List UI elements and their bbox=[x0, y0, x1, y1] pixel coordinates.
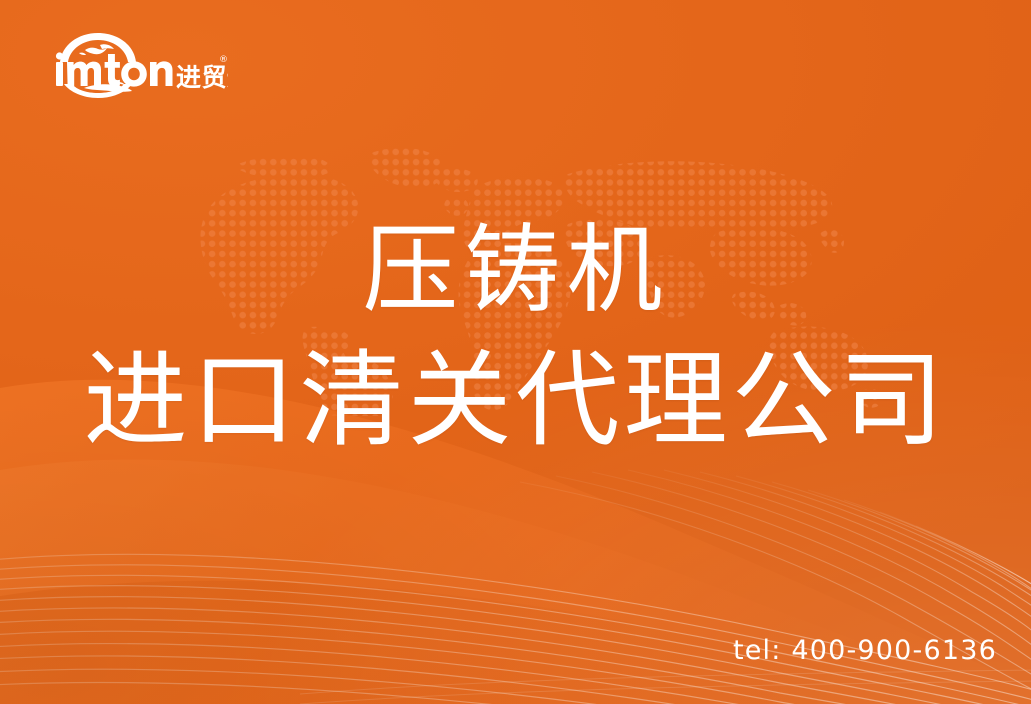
svg-text:进贸通: 进贸通 bbox=[176, 63, 228, 92]
company-logo[interactable]: 进贸通 ® bbox=[38, 28, 228, 100]
contact-telephone[interactable]: tel: 400-900-6136 bbox=[733, 635, 997, 666]
background-vignette bbox=[0, 0, 1031, 704]
promo-banner: 进贸通 ® 压铸机 进口清关代理公司 tel: 400-900-6136 bbox=[0, 0, 1031, 704]
logo-wordmark-chinese: 进贸通 ® bbox=[176, 55, 228, 92]
logo-wordmark-latin bbox=[56, 52, 173, 86]
globe-arc-icon bbox=[60, 33, 136, 62]
svg-text:®: ® bbox=[219, 55, 228, 65]
